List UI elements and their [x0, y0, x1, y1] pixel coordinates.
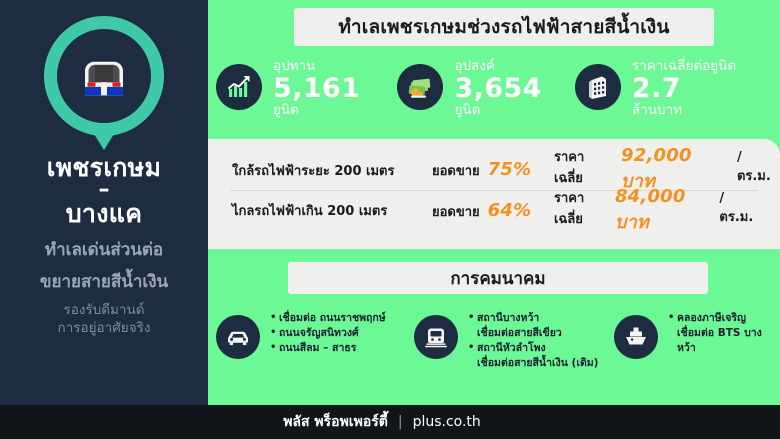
stats-row: อุปทาน 5,161 ยูนิต	[208, 55, 780, 135]
price-unit: / ตร.ม.	[737, 150, 780, 186]
stat-label: อุปสงค์	[454, 59, 541, 74]
transport-heading-chip: การคมนาคม	[288, 262, 708, 294]
transport-item-boat: คลองภาษีเจริญ เชื่อมต่อ BTS บางหว้า	[614, 305, 780, 371]
footer-url[interactable]: plus.co.th	[413, 414, 481, 430]
price-caption: ราคาเฉลี่ย	[554, 146, 613, 188]
transport-car-lines: เชื่อมต่อ ถนนราชพฤกษ์ ถนนจรัญสนิทวงศ์ ถน…	[270, 305, 386, 356]
stat-unit: ยูนิต	[273, 103, 360, 119]
transport-item-car: เชื่อมต่อ ถนนราชพฤกษ์ ถนนจรัญสนิทวงศ์ ถน…	[216, 305, 414, 371]
infographic-page: เพชรเกษม – บางแค ทำเลเด่นส่วนต่อ ขยายสาย…	[0, 0, 780, 439]
sales-value: 64%	[488, 200, 532, 221]
sales-caption: ยอดขาย	[432, 160, 480, 181]
stat-value: 5,161	[273, 74, 360, 103]
stat-value: 2.7	[632, 74, 736, 103]
transport-heading: การคมนาคม	[450, 265, 545, 292]
price-caption: ราคาเฉลี่ย	[554, 187, 607, 229]
footer-content: พลัส พร็อพเพอร์ตี้ | plus.co.th	[283, 411, 481, 433]
stat-supply-text: อุปทาน 5,161 ยูนิต	[273, 55, 360, 119]
transport-items: เชื่อมต่อ ถนนราชพฤกษ์ ถนนจรัญสนิทวงศ์ ถน…	[216, 305, 780, 371]
location-subtitle-2: ขยายสายสีน้ำเงิน	[40, 272, 168, 292]
car-icon	[216, 315, 260, 359]
location-note-1: รองรับดีมานด์	[63, 301, 144, 319]
building-icon	[575, 64, 621, 110]
data-band: ใกล้รถไฟฟ้าระยะ 200 เมตร ยอดขาย 75% ราคา…	[208, 139, 780, 249]
transport-train-lines: สถานีบางหว้า เชื่อมต่อสายสีเขียว สถานีหั…	[468, 305, 598, 371]
footer-bar: พลัส พร็อพเพอร์ตี้ | plus.co.th	[0, 405, 780, 439]
location-title-2: บางแค	[66, 200, 142, 228]
list-item-cont: เชื่อมต่อสายสีน้ำเงิน (เดิม)	[468, 356, 598, 371]
stat-label: ราคาเฉลี่ยต่อยูนิต	[632, 59, 736, 74]
metro-train-icon	[76, 53, 132, 109]
list-item: เชื่อมต่อ ถนนราชพฤกษ์	[270, 311, 386, 326]
stat-label: อุปทาน	[273, 59, 360, 74]
stat-avg-price: ราคาเฉลี่ยต่อยูนิต 2.7 ล้านบาท	[575, 55, 772, 135]
table-row: ไกลรถไฟฟ้าเกิน 200 เมตร ยอดขาย 64% ราคาเ…	[230, 190, 758, 230]
price-unit: / ตร.ม.	[719, 191, 758, 227]
stat-unit: ยูนิต	[454, 103, 541, 119]
header-title-chip: ทำเลเพชรเกษมช่วงรถไฟฟ้าสายสีน้ำเงิน	[294, 8, 714, 46]
row-label: ใกล้รถไฟฟ้าระยะ 200 เมตร	[232, 160, 432, 181]
stat-unit: ล้านบาท	[632, 103, 736, 119]
stat-demand: อุปสงค์ 3,654 ยูนิต	[397, 55, 566, 135]
left-panel: เพชรเกษม – บางแค ทำเลเด่นส่วนต่อ ขยายสาย…	[0, 0, 208, 405]
stat-demand-text: อุปสงค์ 3,654 ยูนิต	[454, 55, 541, 119]
row-sales: ยอดขาย 75%	[432, 159, 554, 181]
map-pin-logo	[38, 14, 170, 152]
price-value: 84,000 บาท	[615, 186, 714, 236]
list-item: ถนนสีลม – สาธร	[270, 341, 386, 356]
bar-chart-growth-icon	[216, 64, 262, 110]
footer-divider: |	[398, 414, 403, 430]
list-item-cont: เชื่อมต่อสายสีเขียว	[468, 326, 598, 341]
stat-avg-price-text: ราคาเฉลี่ยต่อยูนิต 2.7 ล้านบาท	[632, 55, 736, 119]
train-icon	[414, 315, 458, 359]
boat-icon	[614, 315, 658, 359]
list-item: คลองภาษีเจริญ	[668, 311, 780, 326]
footer-brand: พลัส พร็อพเพอร์ตี้	[283, 411, 388, 433]
row-price: ราคาเฉลี่ย 84,000 บาท / ตร.ม.	[554, 186, 758, 236]
list-item: สถานีหัวลำโพง	[468, 341, 598, 356]
list-item: สถานีบางหว้า	[468, 311, 598, 326]
row-label: ไกลรถไฟฟ้าเกิน 200 เมตร	[232, 200, 432, 221]
transport-boat-lines: คลองภาษีเจริญ เชื่อมต่อ BTS บางหว้า	[668, 305, 780, 356]
stat-supply: อุปทาน 5,161 ยูนิต	[216, 55, 389, 135]
table-row: ใกล้รถไฟฟ้าระยะ 200 เมตร ยอดขาย 75% ราคา…	[208, 150, 780, 190]
list-item: ถนนจรัญสนิทวงศ์	[270, 326, 386, 341]
sales-caption: ยอดขาย	[432, 201, 480, 222]
location-note-2: การอยู่อาศัยจริง	[58, 319, 151, 337]
row-sales: ยอดขาย 64%	[432, 200, 554, 222]
money-cash-icon	[397, 64, 443, 110]
location-dash: –	[99, 182, 110, 198]
sales-value: 75%	[488, 159, 532, 180]
page-title: ทำเลเพชรเกษมช่วงรถไฟฟ้าสายสีน้ำเงิน	[338, 12, 669, 42]
transport-item-train: สถานีบางหว้า เชื่อมต่อสายสีเขียว สถานีหั…	[414, 305, 614, 371]
location-subtitle-1: ทำเลเด่นส่วนต่อ	[45, 240, 163, 260]
stat-value: 3,654	[454, 74, 541, 103]
list-item-cont: เชื่อมต่อ BTS บางหว้า	[668, 326, 780, 356]
